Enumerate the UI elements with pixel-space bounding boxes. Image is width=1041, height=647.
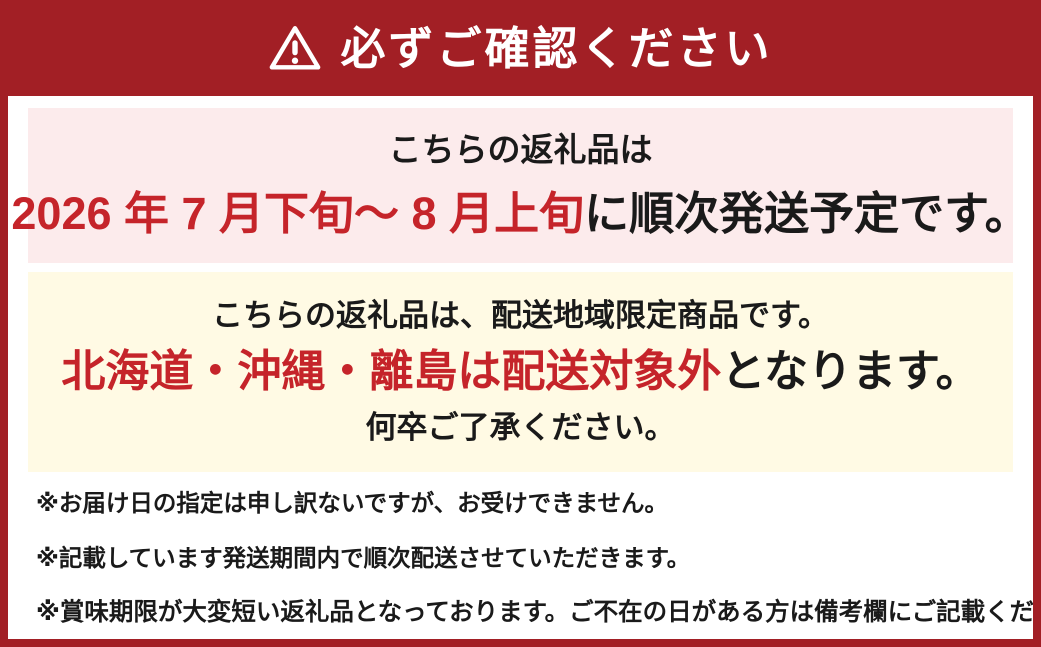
excluded-areas-tail: となります。 [721,347,979,396]
understanding-request-text: 何卒ご了承ください。 [366,408,676,448]
delivery-area-panel: こちらの返礼品は、配送地域限定商品です。 北海道・沖縄・離島は配送対象外となりま… [28,272,1013,472]
footnote-item: ※お届け日の指定は申し訳ないですが、お受けできません。 [36,492,1026,516]
footnote-item: ※記載しています発送期間内で順次配送させていただきます。 [36,547,1026,571]
warning-triangle-icon [268,23,322,73]
footnote-list: ※お届け日の指定は申し訳ないですが、お受けできません。 ※記載しています発送期間… [36,482,1026,626]
shipping-period-tail: に順次発送予定です。 [584,188,1030,239]
footnote-item: ※賞味期限が大変短い返礼品となっております。ご不在の日がある方は備考欄にご記載く… [36,601,1026,626]
shipping-lead-text: こちらの返礼品は [389,129,653,171]
excluded-area-line: 北海道・沖縄・離島は配送対象外となります。 [61,344,979,400]
shipping-period-line: 2026 年 7 月下旬〜 8 月上旬に順次発送予定です。 [11,185,1029,243]
header-title: 必ずご確認ください [340,26,772,71]
area-limited-text: こちらの返礼品は、配送地域限定商品です。 [212,296,829,336]
shipping-period-value: 2026 年 7 月下旬〜 8 月上旬 [11,188,584,239]
shipping-period-panel: こちらの返礼品は 2026 年 7 月下旬〜 8 月上旬に順次発送予定です。 [28,108,1013,263]
excluded-areas-value: 北海道・沖縄・離島は配送対象外 [61,347,721,396]
banner-header: 必ずご確認ください [0,0,1041,96]
notice-banner: 必ずご確認ください こちらの返礼品は 2026 年 7 月下旬〜 8 月上旬に順… [0,0,1041,647]
